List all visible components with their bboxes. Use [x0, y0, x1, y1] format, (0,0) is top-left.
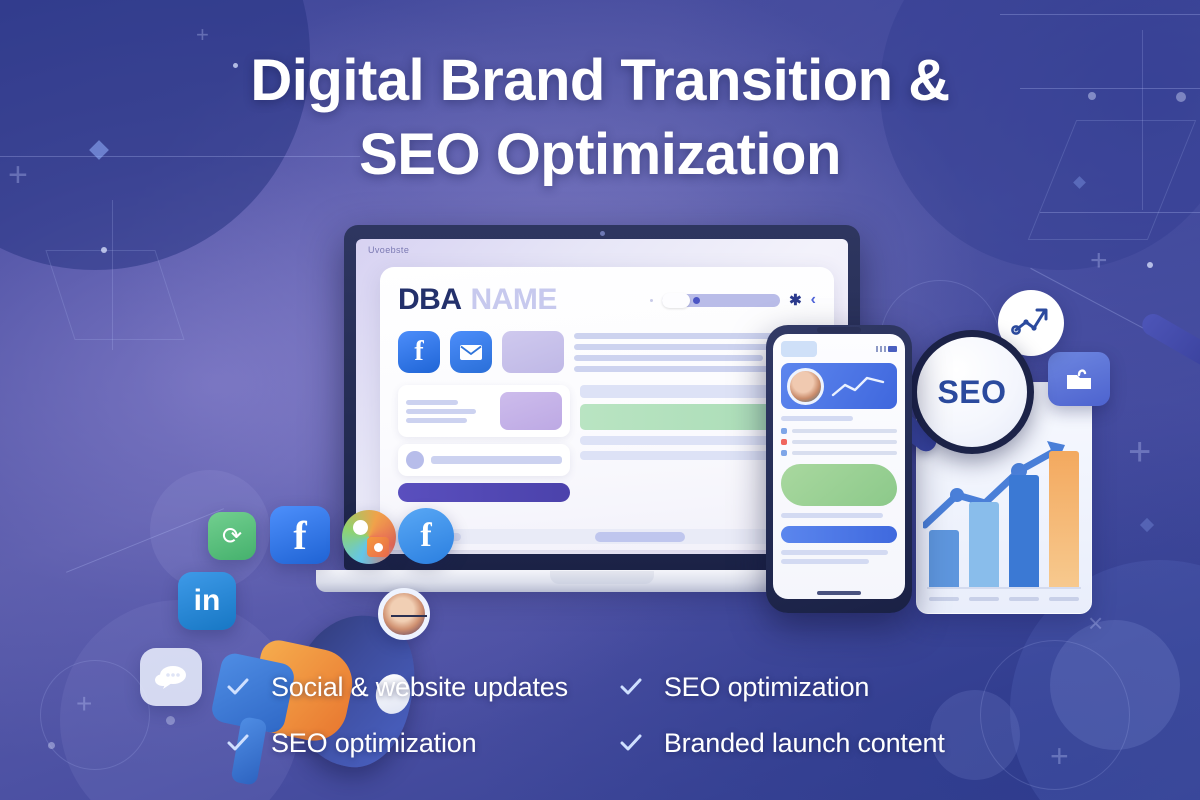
device-illustration: Uvoebste DBANAME [0, 180, 1200, 640]
check-icon [225, 730, 251, 756]
magnifier-glass: SEO [910, 330, 1034, 454]
feature-bullets: Social & website updatesSEO optimization… [0, 672, 1200, 758]
bullet-dot-alert [781, 439, 787, 445]
page-title: Digital Brand Transition & SEO Optimizat… [0, 44, 1200, 192]
axis-tick [1049, 597, 1079, 601]
axis-tick [1009, 597, 1039, 601]
left-card-column [398, 385, 570, 502]
text-line [792, 429, 897, 433]
list-item[interactable] [398, 444, 570, 476]
bullet-column-left: Social & website updatesSEO optimization [225, 672, 590, 758]
list-item: SEO optimization [225, 728, 590, 758]
footer-wide-pill[interactable] [595, 532, 685, 542]
avatar [378, 588, 430, 640]
battery-icon [888, 346, 897, 352]
phone-notch [817, 327, 861, 333]
bullet-label: SEO optimization [271, 728, 476, 758]
list-item: SEO optimization [618, 672, 990, 702]
phone-text-lines [781, 416, 897, 421]
chat-dot [353, 520, 368, 535]
text-line [792, 451, 897, 455]
home-indicator [817, 591, 861, 595]
website-header: DBANAME ✱ ‹ [398, 283, 816, 317]
profile-banner [781, 363, 897, 409]
text-line [781, 559, 869, 564]
phone-screen [773, 334, 905, 599]
title-line-1: Digital Brand Transition & [0, 44, 1200, 118]
phone-text-lines [781, 550, 897, 564]
folder-upload-icon[interactable] [1048, 352, 1110, 406]
site-label: Uvoebste [368, 245, 409, 255]
text-line [781, 416, 853, 421]
laptop-notch [550, 571, 654, 584]
text-line [781, 550, 888, 555]
folder-upload-glyph [1064, 366, 1094, 392]
control-dot [650, 299, 653, 302]
card-text-lines [431, 456, 562, 464]
list-item[interactable] [398, 385, 570, 437]
axis-tick [929, 597, 959, 601]
webcam-icon [600, 231, 605, 236]
phone-status-bar [781, 341, 897, 357]
facebook-bubble-icon[interactable]: f [398, 508, 454, 564]
thumbnail-block [500, 392, 562, 430]
text-line [781, 513, 883, 518]
bullet-column-right: SEO optimizationBranded launch content [618, 672, 990, 758]
chevron-left-icon[interactable]: ‹ [811, 292, 816, 308]
content-bar [580, 451, 783, 460]
axis-tick [969, 597, 999, 601]
bullet-dot [781, 450, 787, 456]
seo-magnifier-icon[interactable]: SEO [910, 330, 1034, 454]
avatar [787, 368, 824, 405]
text-line [792, 440, 897, 444]
header-controls: ✱ ‹ [650, 292, 816, 308]
phone-mockup [766, 325, 912, 613]
card-text-lines [406, 400, 493, 423]
list-item: Social & website updates [225, 672, 590, 702]
bullet-label: SEO optimization [664, 672, 869, 702]
website-body [398, 385, 816, 502]
chat-dot-small [374, 543, 383, 552]
phone-list [781, 428, 897, 456]
text-line [406, 400, 458, 405]
slider-knob[interactable] [693, 297, 700, 304]
chart-bar [969, 502, 999, 587]
status-indicators [876, 346, 897, 352]
search-slider[interactable] [662, 294, 780, 307]
check-icon [225, 674, 251, 700]
content-block [502, 331, 564, 373]
stylus-pointer [1138, 310, 1200, 372]
title-line-2: SEO Optimization [0, 118, 1200, 192]
refresh-icon[interactable]: ⟳ [208, 512, 256, 560]
trend-chart-icon [831, 373, 889, 399]
text-line [431, 456, 562, 464]
dba-heading: DBANAME [398, 283, 557, 317]
check-icon [618, 674, 644, 700]
dba-primary-text: DBA [398, 283, 462, 316]
seo-analytics-cluster: SEO [900, 290, 1130, 620]
bullet-label: Social & website updates [271, 672, 568, 702]
text-line [574, 366, 787, 372]
asterisk-icon[interactable]: ✱ [789, 293, 802, 308]
facebook-icon[interactable]: f [398, 331, 440, 373]
bg-line [1000, 14, 1200, 15]
list-item[interactable] [781, 428, 897, 434]
app-logo-block [781, 341, 817, 357]
chart-ticks [929, 597, 1079, 601]
check-icon [618, 730, 644, 756]
bar-chart [929, 437, 1079, 587]
website-icon-row: f [398, 331, 816, 373]
multicolor-chat-icon[interactable] [342, 510, 396, 564]
text-line [406, 418, 467, 423]
chart-bar [929, 530, 959, 587]
text-line [574, 355, 763, 361]
phone-text-lines [781, 513, 897, 518]
avatar [406, 451, 424, 469]
chart-bar [1049, 451, 1079, 587]
bg-plus: + [196, 24, 209, 46]
facebook-icon[interactable]: f [270, 506, 330, 564]
glasses-icon [391, 615, 427, 624]
seo-label: SEO [937, 374, 1006, 411]
mail-envelope-icon[interactable] [450, 331, 492, 373]
text-line [574, 344, 797, 350]
list-item: Branded launch content [618, 728, 990, 758]
bullet-label: Branded launch content [664, 728, 945, 758]
mail-glyph [459, 344, 483, 361]
bullet-dot [781, 428, 787, 434]
list-item[interactable] [781, 439, 897, 445]
chart-axis [927, 587, 1081, 589]
phone-cta-button[interactable] [781, 526, 897, 543]
text-line [406, 409, 476, 414]
dba-secondary-text: NAME [471, 283, 557, 316]
slider-pill[interactable] [662, 293, 690, 308]
list-item[interactable] [781, 450, 897, 456]
hero-banner: + + + + + × + Digital Brand Transition &… [0, 0, 1200, 800]
chart-bar [1009, 475, 1039, 587]
image-placeholder [781, 464, 897, 506]
